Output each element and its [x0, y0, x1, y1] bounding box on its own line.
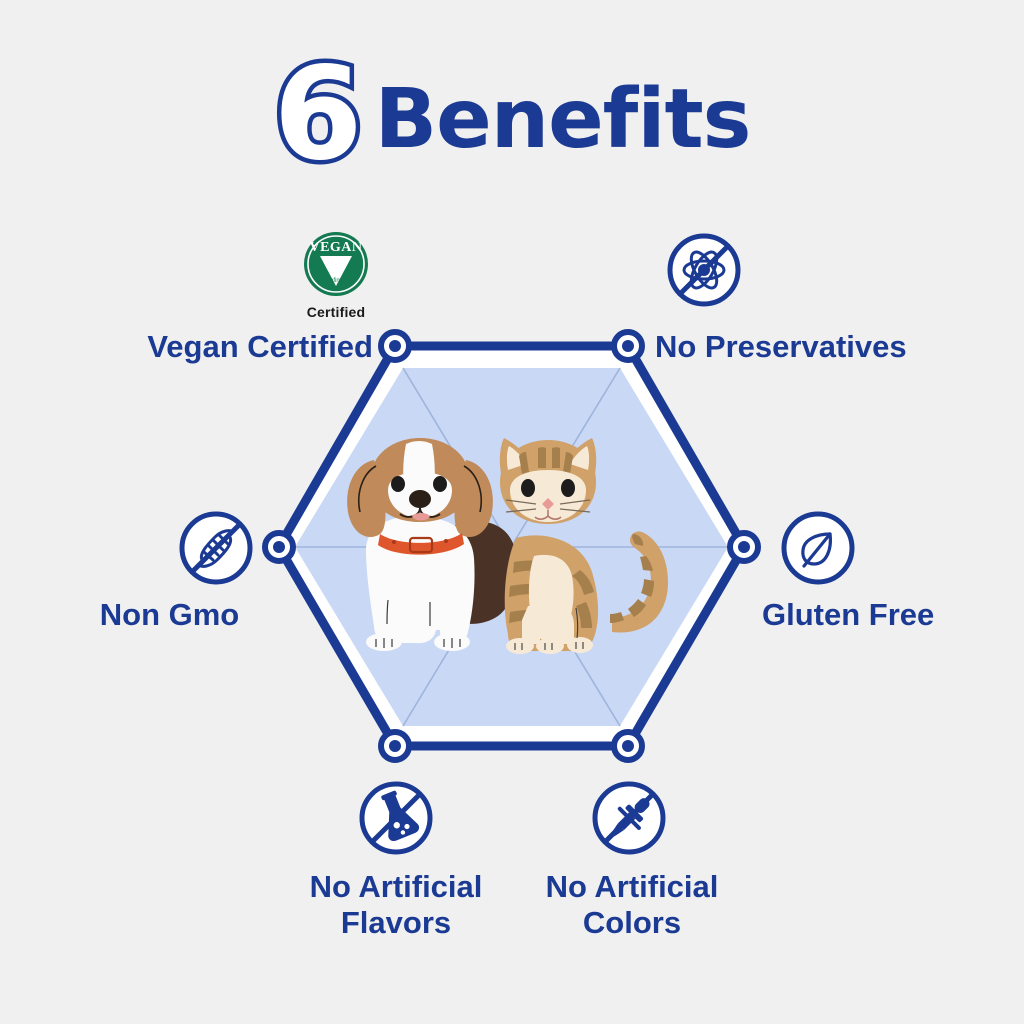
vertex-marker[interactable]: [614, 732, 642, 760]
vertex-marker[interactable]: [730, 533, 758, 561]
leaf-icon: [778, 508, 858, 593]
no-dna-icon: [176, 508, 256, 593]
vertex-marker[interactable]: [614, 332, 642, 360]
svg-text:Refined: Refined: [326, 278, 347, 284]
benefit-label-gluten-free: Gluten Free: [762, 597, 992, 633]
vertex-marker[interactable]: [381, 732, 409, 760]
vertex-marker[interactable]: [265, 533, 293, 561]
beagle-dog: [347, 438, 517, 651]
no-flask-icon: [356, 778, 436, 863]
dog-and-cat-illustration: [330, 430, 690, 665]
no-atom-icon: [664, 230, 744, 315]
tabby-cat: [500, 438, 668, 654]
svg-text:VEGAN: VEGAN: [309, 240, 362, 255]
no-dropper-icon: [589, 778, 669, 863]
benefit-label-no-artificial-flavors: No Artificial Flavors: [282, 869, 510, 941]
benefit-label-non-gmo: Non Gmo: [62, 597, 277, 633]
vertex-marker[interactable]: [381, 332, 409, 360]
benefit-label-vegan-certified: Vegan Certified: [108, 329, 373, 365]
vegan-certified-sublabel: Certified: [292, 304, 380, 320]
benefit-label-no-preservatives: No Preservatives: [655, 329, 965, 365]
vegan-certified-icon: VEGAN Refined: [302, 230, 370, 298]
infographic-canvas: 6 Benefits: [0, 0, 1024, 1024]
benefit-label-no-artificial-colors: No Artificial Colors: [518, 869, 746, 941]
vegan-certified-badge: VEGAN Refined Certified: [292, 230, 380, 318]
